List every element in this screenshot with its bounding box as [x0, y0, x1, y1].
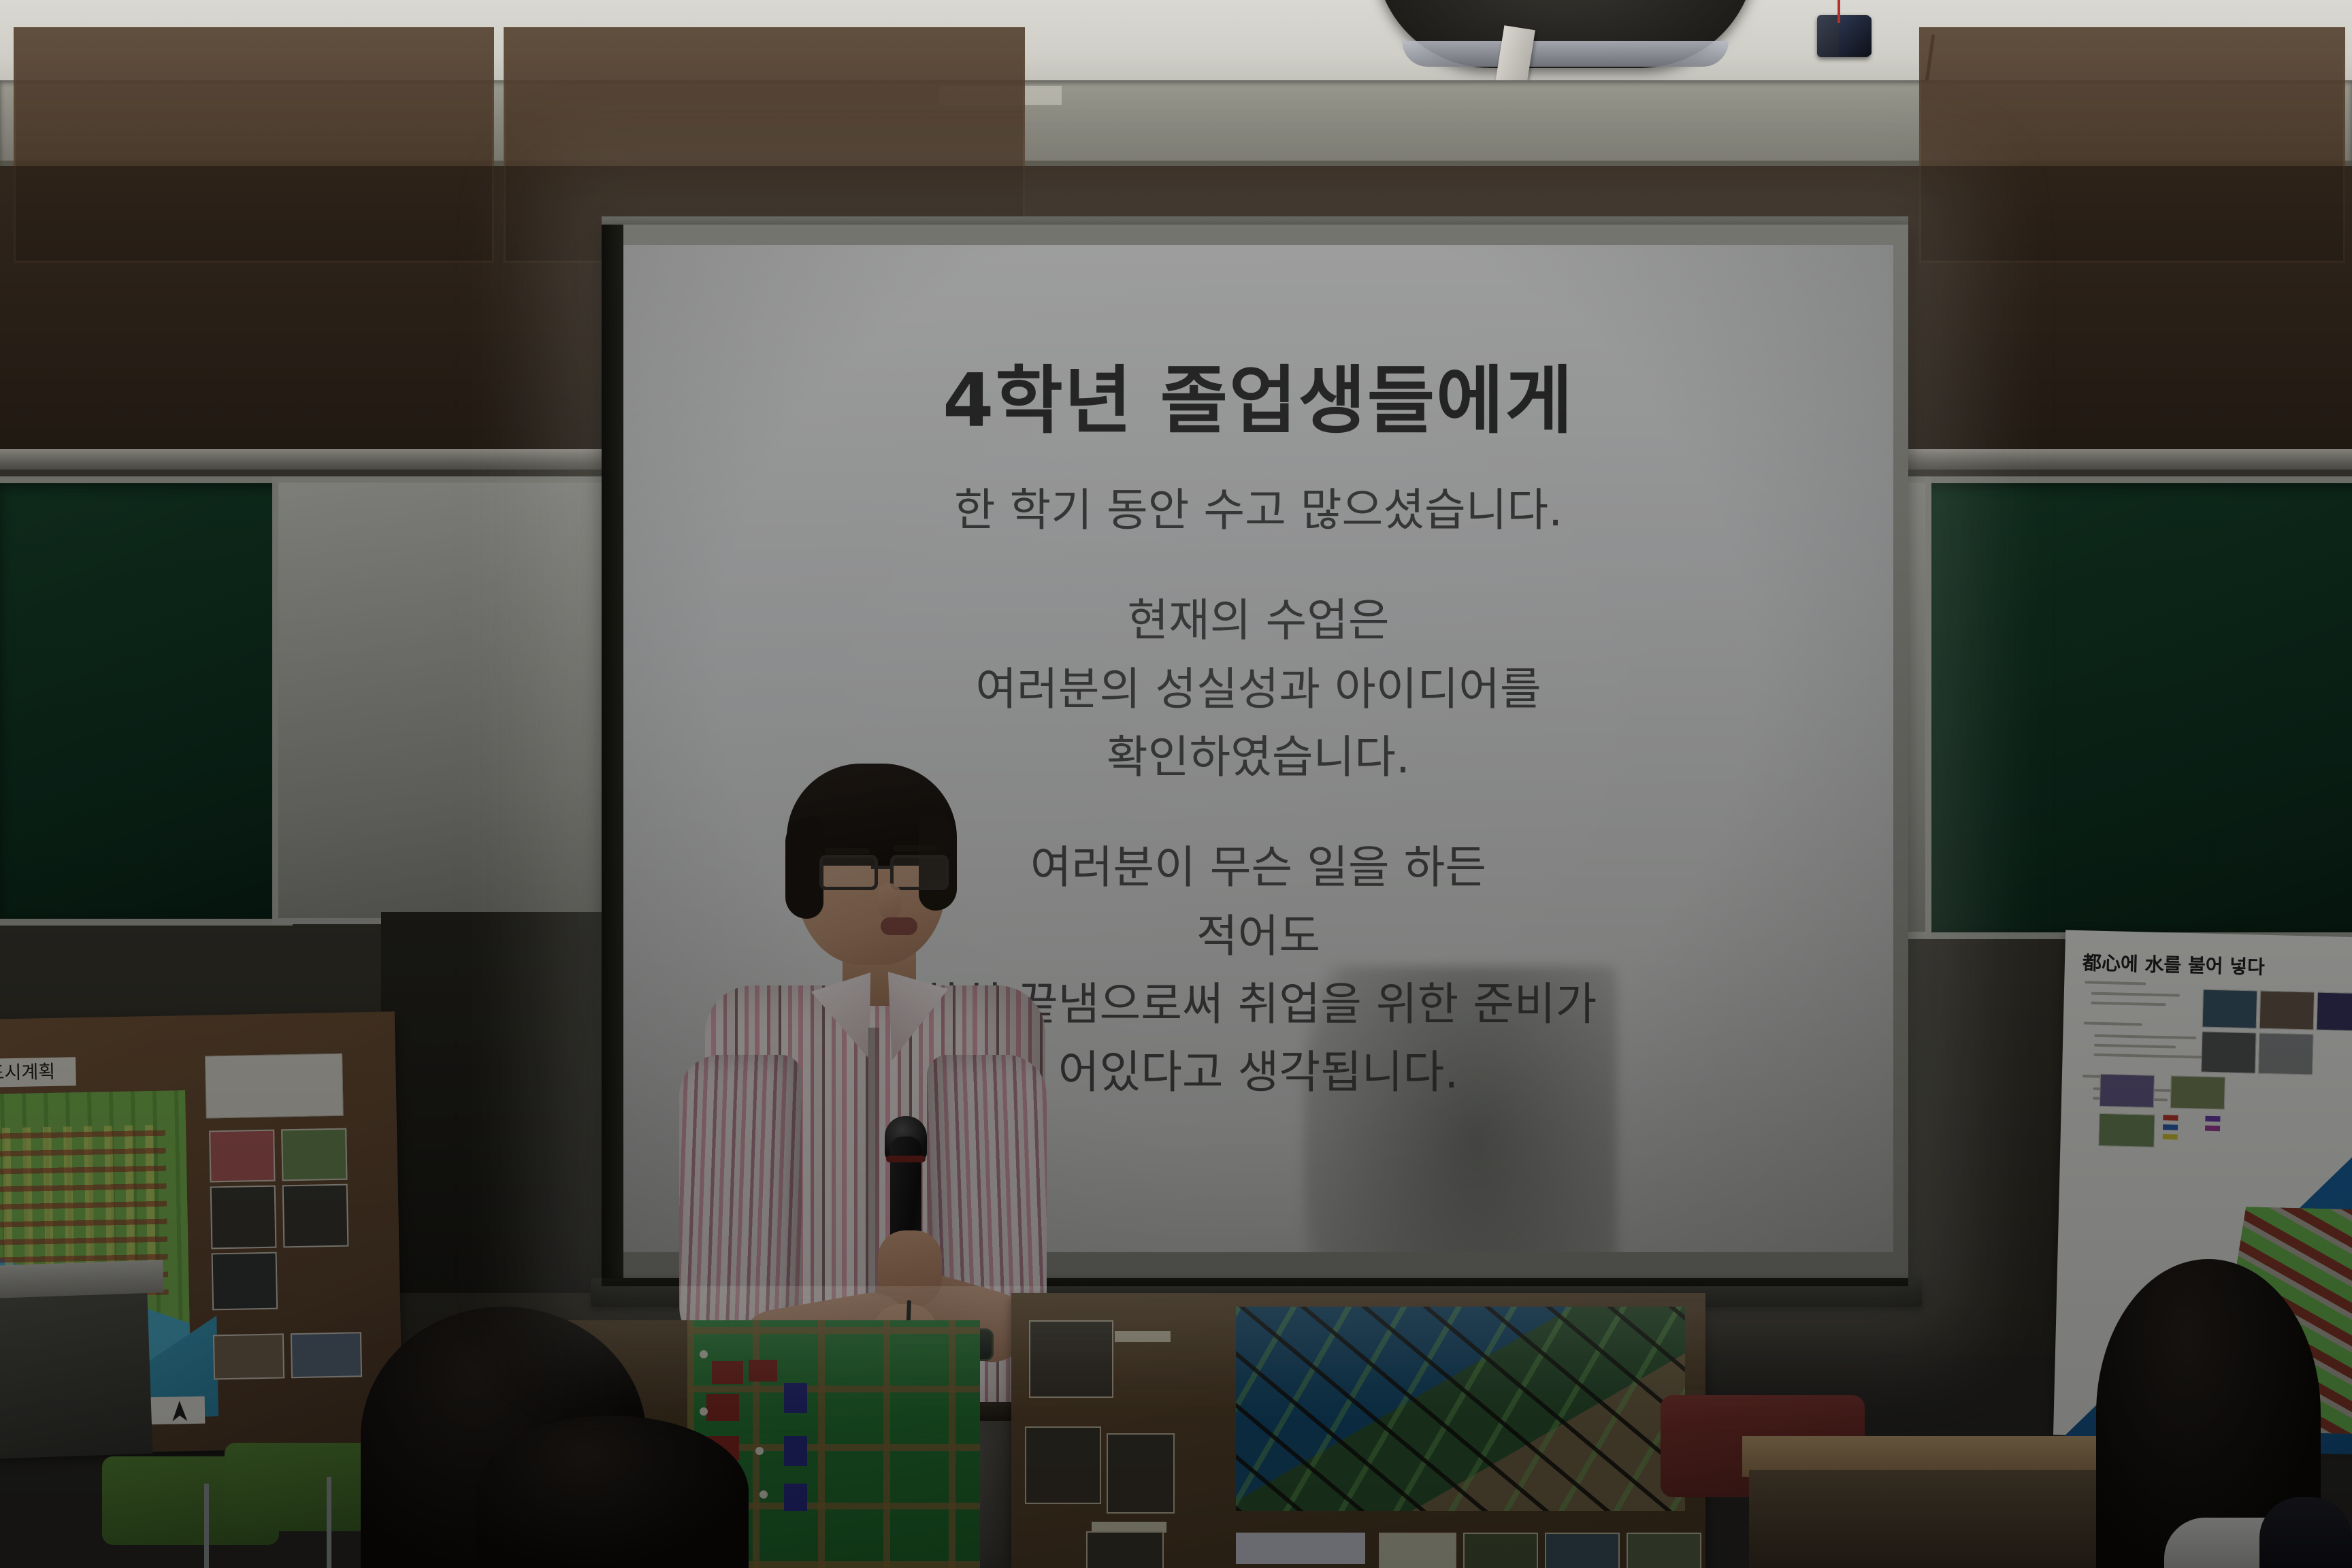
- presenter-mouth: [881, 917, 917, 935]
- eyebrow-right: [893, 845, 938, 851]
- presenter-nose: [878, 883, 901, 919]
- sliding-whiteboard-left: [272, 476, 625, 924]
- plan-block: [712, 1361, 743, 1384]
- plan-block: [784, 1383, 807, 1413]
- eyebrow-left: [825, 848, 870, 854]
- presenter-right-hand: [878, 1230, 942, 1307]
- plan-node: [759, 1490, 768, 1499]
- classroom-scene: 4학년 졸업생들에게 한 학기 동안 수고 많으셨습니다. 현재의 수업은 여러…: [0, 0, 2352, 1568]
- plan-block: [749, 1360, 777, 1382]
- legend-chip: [2163, 1124, 2178, 1130]
- poster-left-thumb: [213, 1333, 284, 1379]
- slide-line: 현재의 수업은: [623, 587, 1893, 655]
- poster-left-thumb: [281, 1128, 347, 1181]
- poster-right-thumb: [2201, 1032, 2256, 1074]
- chair-leg: [327, 1477, 331, 1568]
- poster-center-thumb: [1627, 1533, 1701, 1568]
- speaker-cast-shadow: [1304, 966, 1617, 1252]
- slide-line: 한 학기 동안 수고 많으셨습니다.: [623, 476, 1893, 544]
- poster-left-title: 도시계획: [0, 1057, 76, 1088]
- plan-node: [755, 1447, 764, 1455]
- red-wire: [1837, 0, 1840, 23]
- poster-center-thumb: [1379, 1533, 1456, 1568]
- podium-top: [0, 1260, 164, 1299]
- plan-block: [784, 1436, 807, 1466]
- presenter-left-arm: [679, 1055, 802, 1347]
- poster-center-roads: [1236, 1307, 1685, 1511]
- poster-left-thumb: [212, 1252, 278, 1311]
- chalkboard-left: [0, 476, 293, 926]
- audience-head: [476, 1416, 749, 1568]
- ceiling-fan-rim: [1402, 41, 1729, 67]
- poster-right-title: 都心에 水를 불어 넣다: [2082, 948, 2266, 980]
- poster-right-analysis-map: [2100, 1074, 2155, 1108]
- poster-center-thumb: [1545, 1533, 1620, 1568]
- poster-right-thumb: [2259, 991, 2315, 1030]
- cabinet-panel: [14, 27, 494, 263]
- presenter-hair-left: [785, 817, 823, 919]
- poster-center-tag: [1115, 1331, 1171, 1342]
- podium: [0, 1277, 152, 1460]
- screen-left-edge: [602, 225, 623, 1286]
- poster-center-caption: [1236, 1533, 1365, 1564]
- poster-left-thumb: [282, 1184, 349, 1248]
- chair-leg: [204, 1484, 209, 1568]
- plan-node: [700, 1350, 708, 1358]
- slide-line: 여러분의 성실성과 아이디어를: [623, 655, 1893, 723]
- poster-center-thumb: [1086, 1531, 1164, 1568]
- poster-right-thumb: [2202, 990, 2257, 1029]
- poster-right-thumb: [2258, 1033, 2313, 1075]
- plan-block: [784, 1484, 807, 1511]
- audience-bag-strap: [2259, 1497, 2352, 1568]
- poster-urban-plan-center: [1011, 1293, 1705, 1568]
- poster-right-analysis-map: [2170, 1075, 2225, 1109]
- microphone-ring: [886, 1156, 926, 1162]
- chalkboard-right: [1906, 476, 2352, 939]
- legend-chip: [2163, 1134, 2178, 1140]
- slide-title: 4학년 졸업생들에게: [623, 342, 1893, 448]
- glasses-bridge: [871, 866, 892, 869]
- plan-node: [700, 1407, 708, 1416]
- wall-speaker-cone-icon: [1839, 16, 1872, 56]
- legend-chip: [2205, 1126, 2220, 1132]
- poster-left-thumb: [210, 1186, 277, 1249]
- poster-center-thumb: [1463, 1533, 1538, 1568]
- poster-right-analysis-map: [2098, 1113, 2155, 1147]
- poster-center-thumb: [1025, 1426, 1101, 1504]
- glasses-lens-left: [819, 855, 878, 890]
- legend-chip: [2205, 1116, 2220, 1122]
- poster-left-data-table: [205, 1053, 344, 1119]
- poster-left-thumb: [209, 1130, 275, 1183]
- glasses-lens-right: [890, 855, 949, 890]
- legend-chip: [2163, 1115, 2178, 1121]
- plan-block: [706, 1394, 739, 1421]
- poster-center-thumb: [1107, 1433, 1175, 1514]
- poster-left-thumb: [291, 1332, 362, 1378]
- glasses-icon: [819, 855, 950, 886]
- cabinet-panel: [1919, 27, 2345, 263]
- poster-right-thumb: [2317, 992, 2352, 1032]
- poster-center-thumb: [1029, 1320, 1113, 1398]
